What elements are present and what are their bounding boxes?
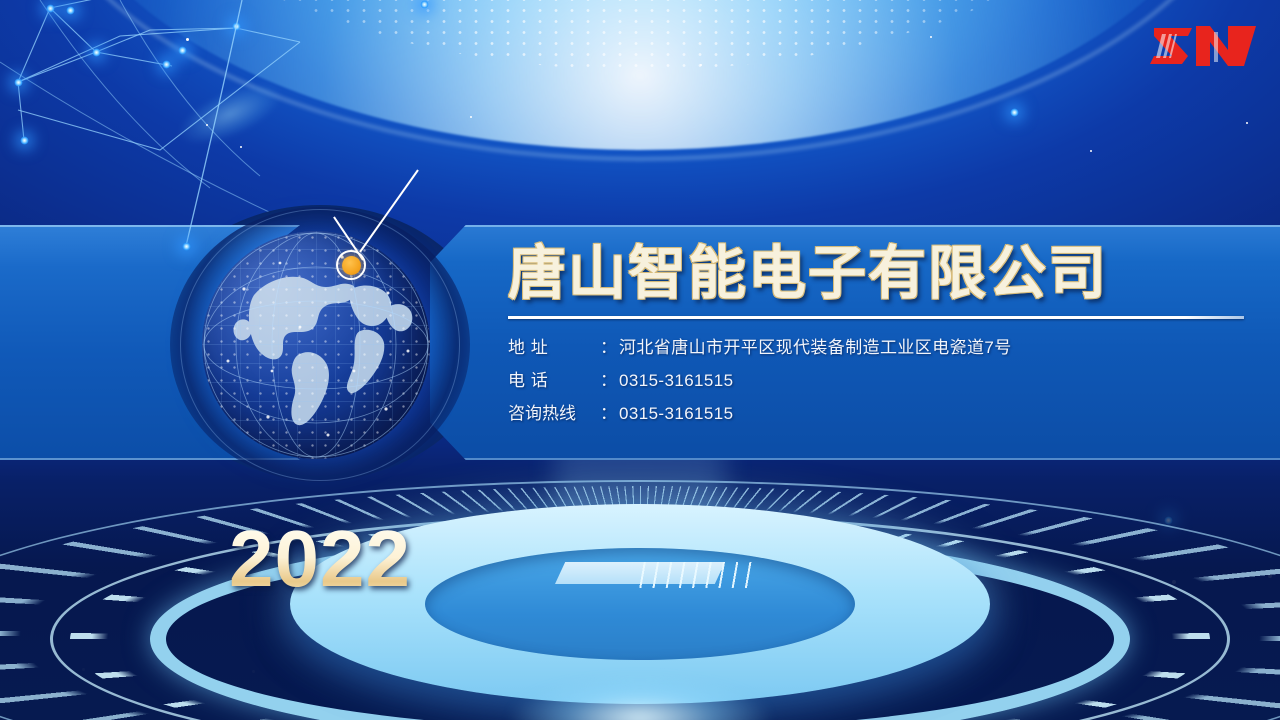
contact-row-phone: 电 话 ： 0315-3161515 [508, 364, 1248, 397]
contact-info-list: 地 址 ： 河北省唐山市开平区现代装备制造工业区电瓷道7号 电 话 ： 0315… [508, 331, 1248, 430]
star-dot [930, 36, 932, 38]
company-info-block: 唐山智能电子有限公司 地 址 ： 河北省唐山市开平区现代装备制造工业区电瓷道7号… [508, 243, 1248, 430]
network-node [420, 0, 429, 9]
star-dot [700, 64, 702, 66]
address-value: 河北省唐山市开平区现代装备制造工业区电瓷道7号 [619, 331, 1012, 364]
globe-sheen [202, 231, 430, 459]
hotline-colon: ： [600, 397, 617, 430]
banner-canvas: 2022 唐山智能电子有限公司 地 址 ： 河北省唐山市开平区现代装备制造工业区… [0, 0, 1280, 720]
globe-leader-node [182, 242, 191, 251]
zn-monogram-icon[interactable] [1148, 18, 1260, 74]
title-divider [508, 316, 1244, 319]
address-label: 地 址 [508, 331, 600, 364]
phone-value: 0315-3161515 [619, 364, 733, 397]
phone-label: 电 话 [508, 364, 600, 397]
network-node [46, 4, 55, 13]
zn-monogram-svg [1148, 18, 1260, 74]
marker-leader-line [352, 152, 532, 262]
star-dot [1246, 122, 1248, 124]
location-marker-icon [336, 250, 366, 280]
contact-row-hotline: 咨询热线 ： 0315-3161515 [508, 397, 1248, 430]
globe-sphere [202, 231, 430, 459]
hotline-value: 0315-3161515 [619, 397, 733, 430]
page-title: 唐山智能电子有限公司 [508, 243, 1248, 306]
network-node [1010, 108, 1019, 117]
network-node [66, 6, 75, 15]
network-node [14, 78, 23, 87]
network-node [92, 48, 101, 57]
hotline-label: 咨询热线 [508, 397, 600, 430]
year-label: 2022 [170, 519, 470, 599]
phone-colon: ： [600, 364, 617, 397]
contact-row-address: 地 址 ： 河北省唐山市开平区现代装备制造工业区电瓷道7号 [508, 331, 1248, 364]
address-colon: ： [600, 331, 617, 364]
marker-reticle-ring [336, 250, 366, 280]
platform-chip-ticks [525, 562, 755, 588]
star-dot [470, 116, 472, 118]
